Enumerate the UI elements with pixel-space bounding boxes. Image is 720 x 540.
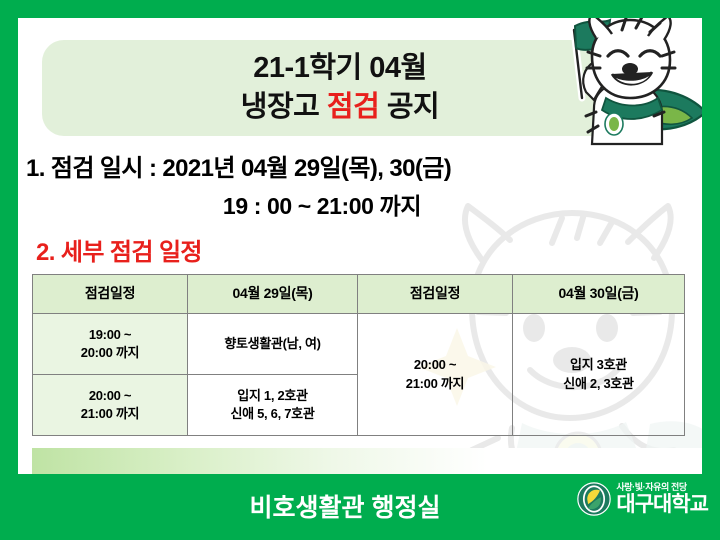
table-row: 19:00 ~ 20:00 까지 향토생활관(남, 여) 20:00 ~ 21:…	[33, 314, 685, 375]
university-logo: 사랑·빛·자유의 전당 대구대학교	[577, 482, 708, 516]
cell-line: 21:00 까지	[360, 375, 510, 393]
title-line2-accent: 점검	[327, 91, 379, 123]
bottom-gradient-strip	[32, 448, 702, 474]
table-header-cell-1: 점검일정	[33, 275, 188, 314]
table-header-cell-2: 04월 29일(목)	[188, 275, 358, 314]
title-line-2: 냉장고 점검 공지	[241, 88, 439, 127]
title-line-1: 21-1학기 04월	[253, 49, 426, 88]
cell-line: 신애 2, 3호관	[515, 375, 682, 393]
logo-tagline: 사랑·빛·자유의 전당	[616, 483, 686, 492]
cell-place-thursday-2: 입지 1, 2호관 신애 5, 6, 7호관	[188, 375, 358, 436]
table-header-row: 점검일정 04월 29일(목) 점검일정 04월 30일(금)	[33, 275, 685, 314]
cell-time-thursday-1: 19:00 ~ 20:00 까지	[33, 314, 188, 375]
cell-time-thursday-2: 20:00 ~ 21:00 까지	[33, 375, 188, 436]
notice-item-2: 2. 세부 점검 일정	[22, 232, 682, 267]
notice-item-1: 1. 점검 일시 : 2021년 04월 29일(목), 30(금)	[22, 148, 682, 183]
cell-line: 입지 3호관	[515, 356, 682, 374]
footer-bar: 비호생활관 행정실 사랑·빛·자유의 전당 대구대학교	[0, 474, 720, 540]
table-header-cell-4: 04월 30일(금)	[513, 275, 685, 314]
table-header-cell-3: 점검일정	[358, 275, 513, 314]
tiger-mascot-icon	[530, 18, 702, 152]
logo-name: 대구대학교	[616, 494, 708, 515]
cell-line: 19:00 ~	[35, 326, 185, 344]
notice-list: 1. 점검 일시 : 2021년 04월 29일(목), 30(금) 19 : …	[22, 148, 682, 267]
slide-root: 21-1학기 04월 냉장고 점검 공지	[0, 0, 720, 540]
cell-line: 21:00 까지	[35, 405, 185, 423]
cell-line: 신애 5, 6, 7호관	[190, 405, 355, 423]
cell-place-thursday-1: 향토생활관(남, 여)	[188, 314, 358, 375]
notice-item-1-time: 19 : 00 ~ 21:00 까지	[22, 187, 682, 221]
cell-line: 20:00 까지	[35, 344, 185, 362]
cell-line: 입지 1, 2호관	[190, 387, 355, 405]
slide-canvas: 21-1학기 04월 냉장고 점검 공지	[18, 18, 702, 474]
university-emblem-icon	[577, 482, 611, 516]
title-line2-before: 냉장고	[241, 91, 327, 123]
cell-place-friday: 입지 3호관 신애 2, 3호관	[513, 314, 685, 436]
inspection-schedule-table: 점검일정 04월 29일(목) 점검일정 04월 30일(금) 19:00 ~ …	[32, 274, 685, 436]
cell-line: 20:00 ~	[35, 387, 185, 405]
title-line2-after: 공지	[379, 91, 439, 123]
cell-time-friday: 20:00 ~ 21:00 까지	[358, 314, 513, 436]
cell-line: 20:00 ~	[360, 356, 510, 374]
